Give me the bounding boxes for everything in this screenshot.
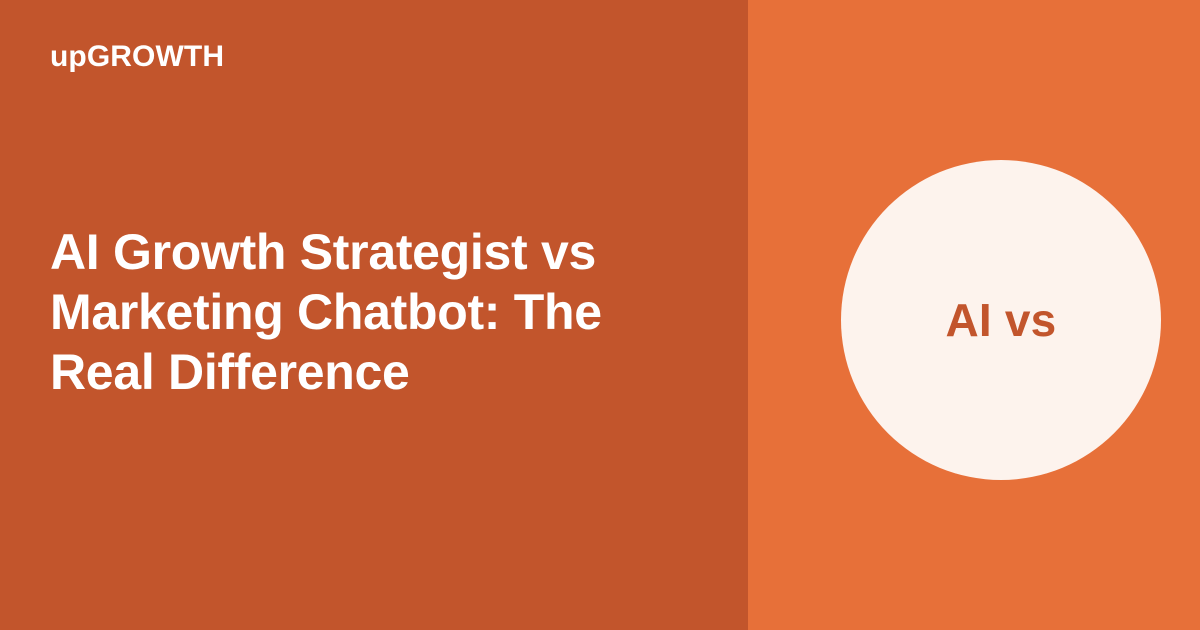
social-share-card: upGROWTH AI Growth Strategist vs Marketi…: [0, 0, 1200, 630]
right-accent-panel: AI vs: [748, 0, 1200, 630]
page-title: AI Growth Strategist vs Marketing Chatbo…: [50, 222, 650, 402]
badge-label: AI vs: [946, 297, 1057, 343]
badge-circle: AI vs: [841, 160, 1161, 480]
left-content-panel: upGROWTH AI Growth Strategist vs Marketi…: [0, 0, 748, 630]
brand-logo: upGROWTH: [50, 38, 224, 76]
